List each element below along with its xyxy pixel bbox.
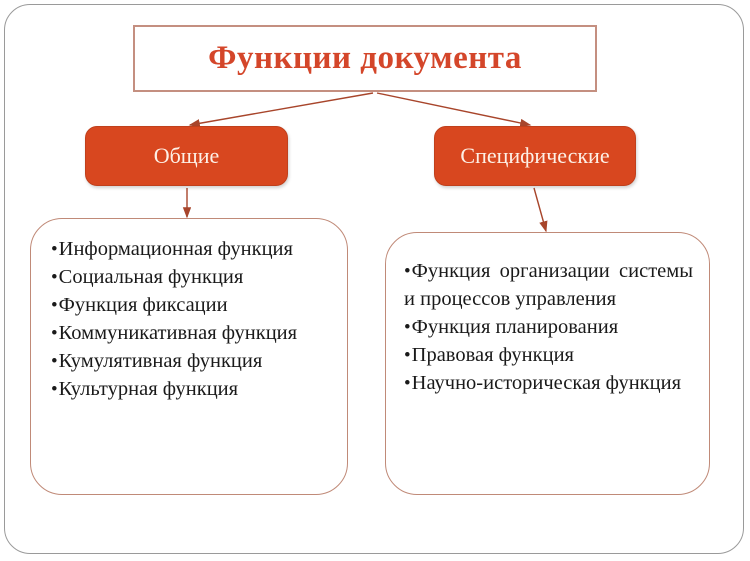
content-box-general: Информационная функция Социальная функци… bbox=[30, 218, 348, 495]
list-item: Функция планирования bbox=[404, 313, 693, 341]
list-item: Функция организации системы и процессов … bbox=[404, 257, 693, 313]
list-item: Правовая функция bbox=[404, 341, 693, 369]
content-box-specific: Функция организации системы и процессов … bbox=[385, 232, 710, 495]
list-item: Социальная функция bbox=[51, 263, 333, 291]
title-box: Функции документа bbox=[133, 25, 597, 92]
category-box-specific[interactable]: Специфические bbox=[434, 126, 636, 186]
list-item: Кумулятивная функция bbox=[51, 347, 333, 375]
list-item: Культурная функция bbox=[51, 375, 333, 403]
list-item: Коммуникативная функция bbox=[51, 319, 333, 347]
category-box-general[interactable]: Общие bbox=[85, 126, 288, 186]
list-item: Функция фиксации bbox=[51, 291, 333, 319]
category-label-specific: Специфические bbox=[460, 145, 609, 167]
function-list-specific: Функция организации системы и процессов … bbox=[404, 257, 693, 397]
category-label-general: Общие bbox=[154, 145, 220, 167]
page-title: Функции документа bbox=[208, 42, 522, 75]
slide-canvas: Функции документа Общие Специфические Ин… bbox=[0, 0, 750, 561]
list-item: Информационная функция bbox=[51, 235, 333, 263]
list-item: Научно-историческая функция bbox=[404, 369, 693, 397]
function-list-general: Информационная функция Социальная функци… bbox=[51, 235, 333, 403]
